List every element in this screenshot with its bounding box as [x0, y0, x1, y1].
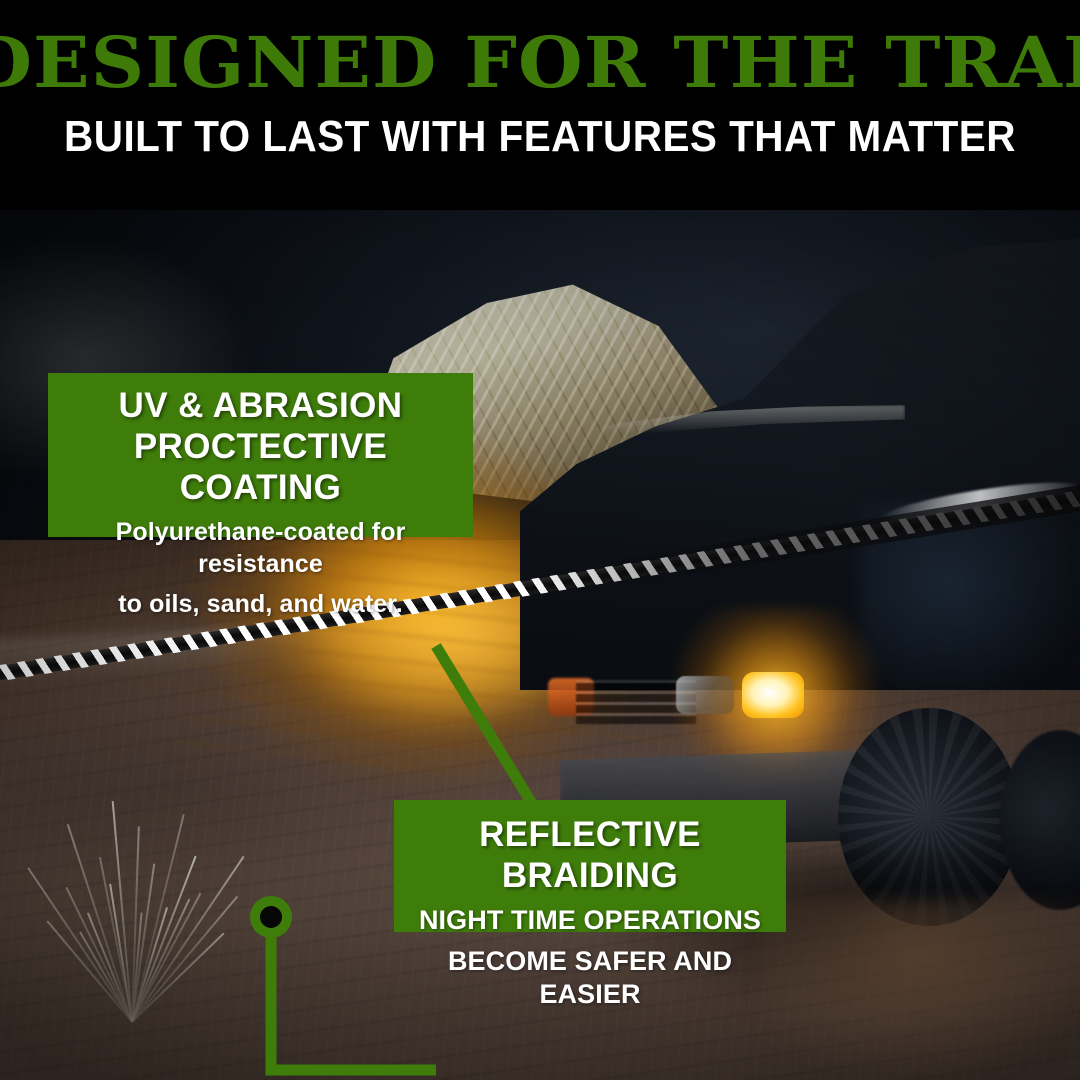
page-subtitle: BUILT TO LAST WITH FEATURES THAT MATTER [43, 112, 1037, 162]
page-title: DESIGNED FOR THE TRAIL [0, 26, 1080, 100]
callout-coating[interactable]: UV & ABRASION PROCTECTIVE COATING Polyur… [48, 373, 473, 537]
desert-shrub [36, 792, 226, 1022]
header-bar: DESIGNED FOR THE TRAIL BUILT TO LAST WIT… [0, 0, 1080, 210]
foreground-boulder [760, 900, 1080, 1080]
callout-braiding[interactable]: REFLECTIVE BRAIDING NIGHT TIME OPERATION… [394, 800, 786, 932]
callout-coating-body-line-1: Polyurethane-coated for resistance [62, 516, 459, 580]
poster-canvas: DESIGNED FOR THE TRAIL BUILT TO LAST WIT… [0, 0, 1080, 1080]
callout-braiding-body-line-1: NIGHT TIME OPERATIONS [406, 904, 774, 937]
callout-braiding-title: REFLECTIVE BRAIDING [406, 814, 774, 896]
callout-braiding-body-line-2: BECOME SAFER AND EASIER [406, 945, 774, 1011]
callout-coating-title-line-2: PROCTECTIVE COATING [62, 426, 459, 508]
headlight-lens [676, 676, 734, 714]
callout-coating-title-line-1: UV & ABRASION [62, 385, 459, 426]
callout-coating-body-line-2: to oils, sand, and water. [62, 588, 459, 620]
anchor-dot-braiding [250, 896, 292, 938]
headlight-core [742, 672, 804, 718]
